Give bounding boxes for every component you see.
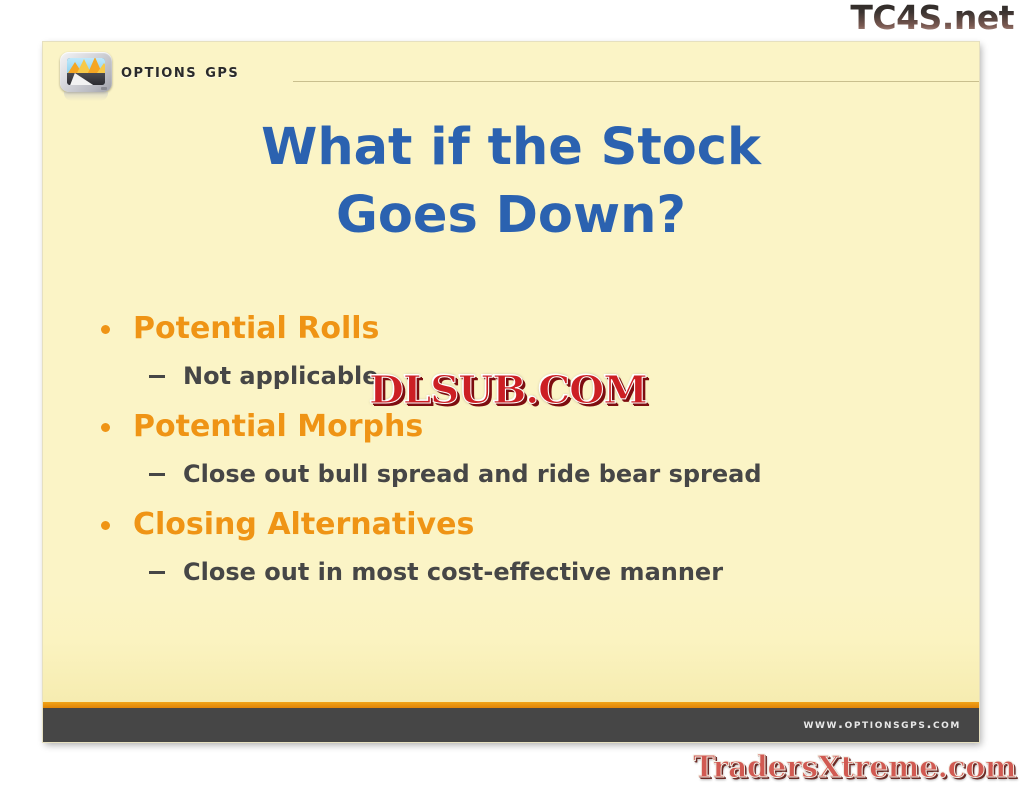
bullet-level1: Potential Rolls <box>91 304 949 353</box>
bullet-dash-icon <box>149 571 165 574</box>
slide-title-line-2: Goes Down? <box>83 182 939 250</box>
footer-bar: www.OptionsGPS.com <box>43 708 979 742</box>
bullet-level2-label: Close out in most cost-effective manner <box>183 558 723 586</box>
tc4s-site-watermark: TC4S.net <box>850 0 1014 38</box>
bullet-dash-icon <box>149 375 165 378</box>
device-led <box>101 87 107 90</box>
slide-title-line-1: What if the Stock <box>83 114 939 182</box>
presentation-slide: Options GPS What if the Stock Goes Down?… <box>43 42 979 742</box>
bullet-group: Potential Morphs Close out bull spread a… <box>91 402 949 498</box>
slide-footer: www.OptionsGPS.com <box>43 702 979 742</box>
bullet-level1-label: Potential Rolls <box>133 311 379 346</box>
slide-header: Options GPS <box>43 42 979 104</box>
brand-title: Options GPS <box>121 60 239 82</box>
footer-url-label: www.OptionsGPS.com <box>803 717 961 732</box>
bullet-dot-icon <box>101 325 110 334</box>
slide-background-gradient <box>43 592 979 702</box>
bullet-list: Potential Rolls Not applicable Potential… <box>91 304 949 598</box>
bullet-level1: Closing Alternatives <box>91 500 949 549</box>
header-divider <box>293 81 979 82</box>
bullet-level2-label: Close out bull spread and ride bear spre… <box>183 460 762 488</box>
slide-title: What if the Stock Goes Down? <box>83 114 939 250</box>
gps-navigator-icon <box>60 52 112 94</box>
screen-mountains <box>67 58 105 73</box>
bullet-level1-label: Potential Morphs <box>133 409 423 444</box>
bullet-level2: Close out bull spread and ride bear spre… <box>91 451 949 498</box>
bullet-level2: Close out in most cost-effective manner <box>91 549 949 596</box>
bullet-dash-icon <box>149 473 165 476</box>
bullet-group: Closing Alternatives Close out in most c… <box>91 500 949 596</box>
tradersxtreme-watermark: TradersXtreme.com <box>693 750 1016 785</box>
dlsub-watermark: DLSUB.COM <box>369 367 647 412</box>
bullet-dot-icon <box>101 521 110 530</box>
device-screen <box>67 58 105 85</box>
bullet-level1-label: Closing Alternatives <box>133 507 474 542</box>
device-reflection <box>64 92 108 101</box>
bullet-level2-label: Not applicable <box>183 362 379 390</box>
screen-road <box>70 73 95 85</box>
bullet-dot-icon <box>101 423 110 432</box>
